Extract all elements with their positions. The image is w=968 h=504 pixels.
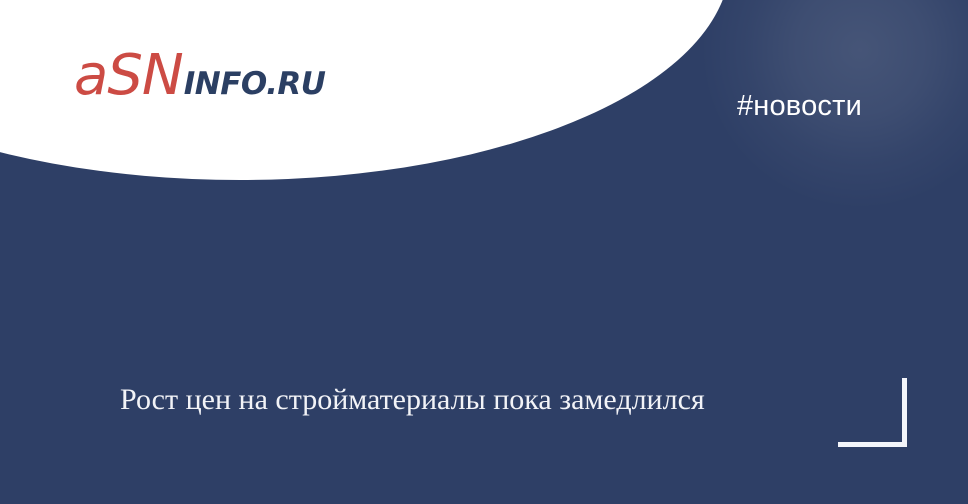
page-title: Рост цен на стройматериалы пока замедлил… — [120, 381, 820, 419]
corner-bracket-decoration — [838, 378, 907, 447]
hashtag-label[interactable]: #новости — [737, 90, 862, 123]
news-card: aSN INFO.RU #новости Рост цен на стройма… — [0, 0, 968, 504]
site-logo[interactable]: aSN INFO.RU — [74, 48, 325, 112]
logo-primary-text: aSN — [74, 48, 183, 104]
logo-secondary-text: INFO.RU — [184, 69, 326, 100]
